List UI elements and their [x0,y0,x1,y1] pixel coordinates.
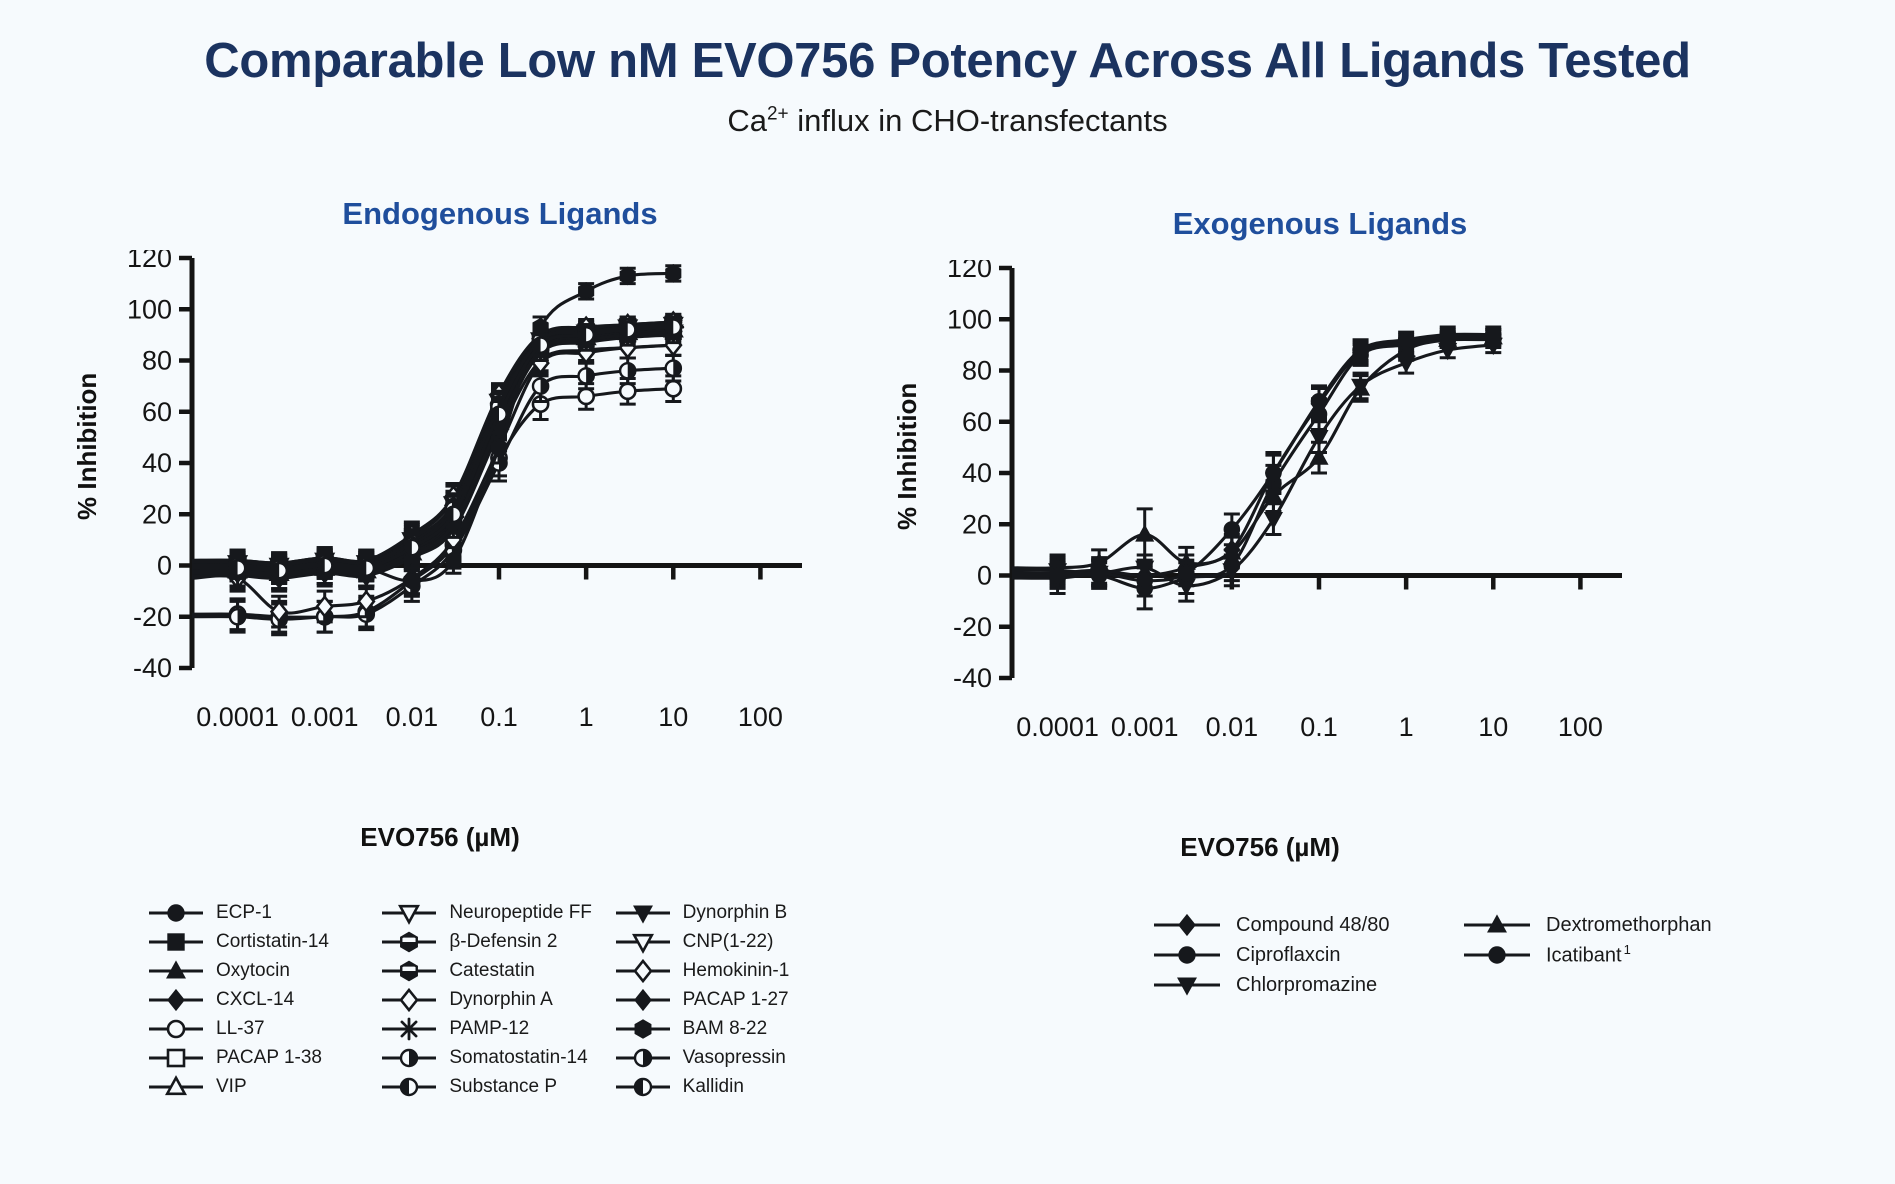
x-tick-label: 100 [738,702,783,732]
legend-item-label: VIP [207,1076,247,1098]
hex-halfh2-icon [378,958,440,984]
triangle-up-filled-icon [1460,912,1534,938]
circle-halfright2-icon [612,1074,674,1100]
y-tick-label: 20 [962,509,992,539]
y-tick-label: 0 [157,551,172,581]
y-tick-label: 120 [127,250,172,273]
legend-item[interactable]: CNP(1-22) [612,927,845,956]
legend-item-label: Chlorpromazine [1224,974,1377,997]
circle-halfleft-icon [378,1045,440,1071]
diamond-filled2-icon [612,987,674,1013]
legend-item-label: Ciproflaxcin [1224,944,1340,967]
legend-item[interactable]: Dynorphin A [378,985,611,1014]
x-axis-title-right: EVO756 (µM) [1050,832,1470,863]
legend-item[interactable]: VIP [145,1072,378,1101]
legend-item[interactable]: Ciproflaxcin [1150,940,1460,970]
page-title: Comparable Low nM EVO756 Potency Across … [0,33,1895,89]
x-tick-label: 0.01 [1206,712,1259,742]
legend-item-label: β-Defensin 2 [440,931,557,953]
legend-item[interactable]: Dextromethorphan [1460,910,1770,940]
subtitle-post: influx in CHO-transfectants [789,103,1168,138]
x-tick-label: 0.001 [291,702,359,732]
subtitle-superscript: 2+ [767,104,789,125]
y-tick-label: 80 [962,356,992,386]
legend-item-label: Dynorphin A [440,989,553,1011]
x-tick-label: 0.01 [386,702,439,732]
triangle-down-filled-icon [612,900,674,926]
circle-filled-icon [145,900,207,926]
legend-item-label: CXCL-14 [207,989,294,1011]
legend-item-label: Catestatin [440,960,535,982]
hex-filled-icon [612,1016,674,1042]
hex-halfh-icon [378,929,440,955]
legend-column: Dynorphin BCNP(1-22)Hemokinin-1PACAP 1-2… [612,898,845,1101]
triangle-up-filled-icon [145,958,207,984]
y-tick-label: 120 [947,260,992,283]
plot-exogenous-ligands: 120100806040200-20-400.00010.0010.010.11… [880,260,1640,780]
series-group [1012,327,1502,609]
legend-column: ECP-1Cortistatin-14OxytocinCXCL-14LL-37P… [145,898,378,1101]
legend-item[interactable]: LL-37 [145,1014,378,1043]
data-series [1012,328,1501,589]
y-tick-label: 60 [962,407,992,437]
y-tick-label: 20 [142,499,172,529]
legend-item[interactable]: Catestatin [378,956,611,985]
legend-item-label: Icatibant1 [1534,942,1631,968]
legend-item-label: Neuropeptide FF [440,902,592,924]
y-tick-label: -20 [133,602,172,632]
figure-subtitle: Ca2+ influx in CHO-transfectants [0,103,1895,139]
x-tick-label: 1 [1399,712,1414,742]
x-tick-label: 10 [1478,712,1508,742]
legend-item-label: Compound 48/80 [1224,914,1389,937]
data-series [192,355,681,634]
circle-halfright-icon [378,1074,440,1100]
x-tick-label: 0.0001 [196,702,279,732]
legend-item-label: Somatostatin-14 [440,1047,587,1069]
legend-item[interactable]: Dynorphin B [612,898,845,927]
subtitle-pre: Ca [727,103,767,138]
legend-item-label: PACAP 1-27 [674,989,789,1011]
legend-item[interactable]: Oxytocin [145,956,378,985]
y-tick-label: 0 [977,561,992,591]
legend-item[interactable]: β-Defensin 2 [378,927,611,956]
y-tick-label: 40 [962,458,992,488]
legend-item-label: BAM 8-22 [674,1018,767,1040]
legend-item[interactable]: Hemokinin-1 [612,956,845,985]
y-tick-label: 80 [142,346,172,376]
legend-item[interactable]: PACAP 1-27 [612,985,845,1014]
diamond-filled-icon [145,987,207,1013]
circle-filled-icon [1150,942,1224,968]
y-tick-label: 60 [142,397,172,427]
data-series [1012,337,1502,601]
diamond-open2-icon [612,958,674,984]
circle-halfleft2-icon [612,1045,674,1071]
legend-item-label: Substance P [440,1076,557,1098]
legend-item[interactable]: Kallidin [612,1072,845,1101]
legend-item-label: Dextromethorphan [1534,914,1712,937]
x-axis-title-left: EVO756 (µM) [230,822,650,853]
legend-item-label: LL-37 [207,1018,265,1040]
legend-item[interactable]: Somatostatin-14 [378,1043,611,1072]
figure-root: Comparable Low nM EVO756 Potency Across … [0,0,1895,1184]
panel-title-endogenous: Endogenous Ligands [180,196,820,232]
data-series [192,325,681,589]
legend-item[interactable]: Vasopressin [612,1043,845,1072]
legend-item-label: Cortistatin-14 [207,931,329,953]
legend-item[interactable]: CXCL-14 [145,985,378,1014]
legend-item[interactable]: Compound 48/80 [1150,910,1460,940]
legend-item[interactable]: Neuropeptide FF [378,898,611,927]
y-tick-label: -40 [133,653,172,683]
legend-item[interactable]: Icatibant1 [1460,940,1770,970]
diamond-filled-icon [1150,912,1224,938]
data-series [192,376,681,632]
legend-column: DextromethorphanIcatibant1 [1460,910,1770,1000]
legend-item-label: Vasopressin [674,1047,786,1069]
legend-item[interactable]: ECP-1 [145,898,378,927]
x-tick-label: 0.1 [1300,712,1338,742]
series-group [192,265,683,635]
legend-item-label: PAMP-12 [440,1018,529,1040]
x-tick-label: 1 [579,702,594,732]
data-series [192,322,681,589]
triangle-down-filled-icon [1150,972,1224,998]
legend-endogenous: ECP-1Cortistatin-14OxytocinCXCL-14LL-37P… [145,898,845,1101]
y-tick-label: 100 [127,294,172,324]
y-tick-label: 100 [947,304,992,334]
square-open-icon [145,1045,207,1071]
legend-item-label: Dynorphin B [674,902,788,924]
legend-item[interactable]: BAM 8-22 [612,1014,845,1043]
y-tick-label: -20 [953,612,992,642]
data-series [192,335,681,627]
legend-superscript: 1 [1622,942,1631,957]
circle-open-icon [145,1016,207,1042]
legend-item[interactable]: PAMP-12 [378,1014,611,1043]
diamond-open-icon [378,987,440,1013]
panel-title-exogenous: Exogenous Ligands [1000,206,1640,242]
asterisk-icon [378,1016,440,1042]
x-tick-label: 0.0001 [1016,712,1099,742]
y-tick-label: 40 [142,448,172,478]
legend-column: Neuropeptide FFβ-Defensin 2CatestatinDyn… [378,898,611,1101]
plot-endogenous-ligands: 120100806040200-20-400.00010.0010.010.11… [60,250,820,770]
triangle-up-open-icon [145,1074,207,1100]
x-tick-label: 10 [658,702,688,732]
legend-item[interactable]: PACAP 1-38 [145,1043,378,1072]
legend-column: Compound 48/80CiproflaxcinChlorpromazine [1150,910,1460,1000]
data-series [1012,327,1501,596]
legend-item-label: CNP(1-22) [674,931,774,953]
y-tick-label: -40 [953,663,992,693]
square-filled-icon [145,929,207,955]
legend-item[interactable]: Cortistatin-14 [145,927,378,956]
x-tick-label: 0.001 [1111,712,1179,742]
legend-exogenous: Compound 48/80CiproflaxcinChlorpromazine… [1150,910,1770,1000]
triangle-down-open-icon [378,900,440,926]
legend-item-label: Kallidin [674,1076,744,1098]
legend-item-label: PACAP 1-38 [207,1047,322,1069]
triangle-down-open2-icon [612,929,674,955]
legend-item-label: Oxytocin [207,960,290,982]
legend-item-label: ECP-1 [207,902,272,924]
x-tick-label: 100 [1558,712,1603,742]
legend-item[interactable]: Substance P [378,1072,611,1101]
legend-item[interactable]: Chlorpromazine [1150,970,1460,1000]
circle-filled2-icon [1460,942,1534,968]
legend-item-label: Hemokinin-1 [674,960,790,982]
x-tick-label: 0.1 [480,702,518,732]
